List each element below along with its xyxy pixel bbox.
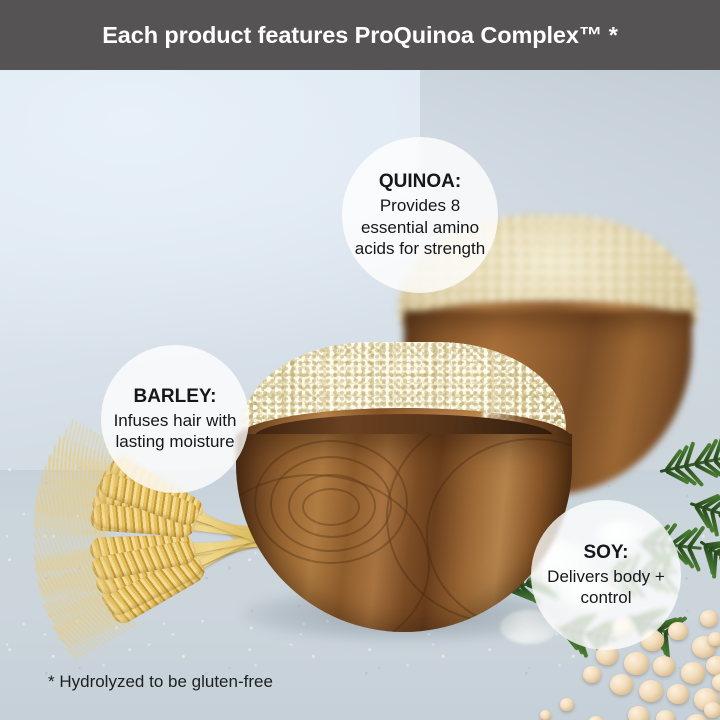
callout-barley-body: Infuses hair with lasting moisture [103,410,247,454]
callout-barley[interactable]: BARLEY: Infuses hair with lasting moistu… [101,345,249,493]
soybean [686,714,708,720]
callout-soy-body: Delivers body + control [537,566,675,610]
soybean [583,666,601,683]
soybean [700,610,718,627]
soybean [624,652,649,675]
soybean [668,622,688,640]
header-bar: Each product features ProQuinoa Complex™… [0,0,720,70]
soybean [706,656,720,675]
page-title: Each product features ProQuinoa Complex™… [0,0,720,70]
footnote: * Hydrolyzed to be gluten-free [48,672,273,692]
soybean [681,662,705,684]
callout-quinoa-title: QUINOA: [379,170,461,194]
soybean [588,716,604,720]
soybean [656,710,675,720]
callout-soy-title: SOY: [583,541,628,565]
soybean [667,684,689,704]
soybean [610,674,633,695]
callout-barley-title: BARLEY: [133,385,216,409]
soybean [708,632,720,646]
soybean [639,680,663,702]
soybean [704,702,720,718]
callout-quinoa-body: Provides 8 essential amino acids for str… [346,195,494,260]
soybean [540,710,551,720]
callout-soy[interactable]: SOY: Delivers body + control [531,500,681,650]
soybean [653,656,675,676]
callout-quinoa[interactable]: QUINOA: Provides 8 essential amino acids… [342,137,498,293]
product-infographic: Each product features ProQuinoa Complex™… [0,0,720,720]
soybean [628,706,649,720]
soybean [560,698,574,711]
